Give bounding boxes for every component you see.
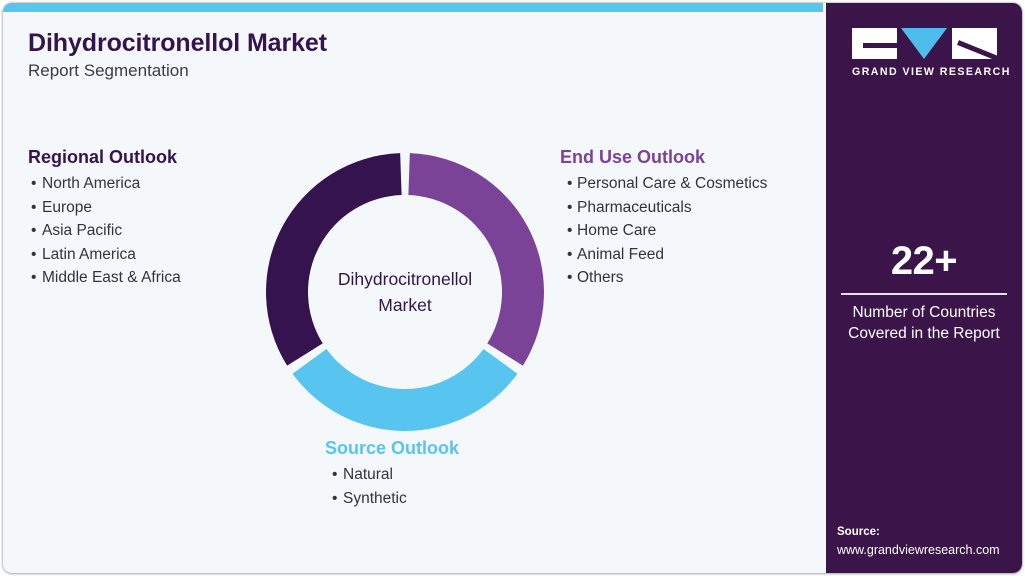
list-item-label: Personal Care & Cosmetics: [577, 172, 767, 196]
list-item-label: Home Care: [577, 219, 656, 243]
regional-outlook-list: •North America •Europe •Asia Pacific •La…: [28, 172, 181, 290]
page-subtitle: Report Segmentation: [28, 61, 189, 81]
logo-letter-r-icon: [952, 28, 997, 59]
infographic-canvas: Dihydrocitronellol Market Report Segment…: [0, 0, 1025, 576]
stat-value: 22+: [826, 239, 1022, 283]
source-url[interactable]: www.grandviewresearch.com: [837, 541, 1022, 559]
list-item: •Synthetic: [332, 487, 459, 511]
list-item-label: Latin America: [42, 243, 136, 267]
list-item: •Middle East & Africa: [31, 266, 181, 290]
list-item-label: Synthetic: [343, 487, 407, 511]
list-item-label: Natural: [343, 463, 393, 487]
page-title: Dihydrocitronellol Market: [28, 29, 327, 58]
list-item-label: Others: [577, 266, 624, 290]
donut-segment: [408, 153, 544, 366]
bullet-icon: •: [567, 243, 577, 267]
bullet-icon: •: [567, 219, 577, 243]
list-item-label: Asia Pacific: [42, 219, 122, 243]
source-outlook-list: •Natural •Synthetic: [325, 463, 459, 510]
stat-label-line1: Number of Countries: [826, 302, 1022, 323]
list-item: •Natural: [332, 463, 459, 487]
list-item-label: Middle East & Africa: [42, 266, 181, 290]
stat-divider: [841, 293, 1007, 295]
list-item: •Latin America: [31, 243, 181, 267]
end-use-outlook-list: •Personal Care & Cosmetics •Pharmaceutic…: [560, 172, 767, 290]
bullet-icon: •: [31, 196, 42, 220]
bullet-icon: •: [567, 172, 577, 196]
stat-label: Number of Countries Covered in the Repor…: [826, 302, 1022, 344]
source-outlook-heading: Source Outlook: [325, 438, 459, 459]
source-outlook-block: Source Outlook •Natural •Synthetic: [325, 438, 459, 510]
list-item: •Personal Care & Cosmetics: [567, 172, 767, 196]
report-card: Dihydrocitronellol Market Report Segment…: [3, 3, 1022, 573]
list-item: •Animal Feed: [567, 243, 767, 267]
logo-letter-g-icon: [852, 28, 897, 59]
list-item-label: Pharmaceuticals: [577, 196, 692, 220]
donut-segment: [293, 349, 518, 431]
source-title: Source:: [837, 524, 1022, 541]
list-item: •North America: [31, 172, 181, 196]
list-item: •Pharmaceuticals: [567, 196, 767, 220]
main-content-area: Dihydrocitronellol Market Report Segment…: [3, 12, 823, 573]
bullet-icon: •: [332, 463, 343, 487]
end-use-outlook-heading: End Use Outlook: [560, 147, 767, 168]
list-item-label: Europe: [42, 196, 92, 220]
list-item: •Others: [567, 266, 767, 290]
logo-marks: [852, 28, 997, 59]
end-use-outlook-block: End Use Outlook •Personal Care & Cosmeti…: [560, 147, 767, 290]
list-item: •Asia Pacific: [31, 219, 181, 243]
donut-chart-svg: [266, 153, 544, 431]
regional-outlook-block: Regional Outlook •North America •Europe …: [28, 147, 181, 290]
logo-letter-v-icon: [901, 28, 947, 59]
bullet-icon: •: [31, 266, 42, 290]
donut-segment: [266, 153, 402, 366]
logo-wordmark: GRAND VIEW RESEARCH: [852, 66, 997, 78]
donut-chart: Dihydrocitronellol Market: [266, 153, 544, 431]
list-item: •Europe: [31, 196, 181, 220]
bullet-icon: •: [31, 172, 42, 196]
brand-logo: GRAND VIEW RESEARCH: [852, 28, 997, 78]
list-item-label: North America: [42, 172, 140, 196]
stat-label-line2: Covered in the Report: [826, 323, 1022, 344]
list-item: •Home Care: [567, 219, 767, 243]
countries-stat: 22+ Number of Countries Covered in the R…: [826, 239, 1022, 344]
regional-outlook-heading: Regional Outlook: [28, 147, 181, 168]
bullet-icon: •: [332, 487, 343, 511]
list-item-label: Animal Feed: [577, 243, 664, 267]
side-panel: GRAND VIEW RESEARCH 22+ Number of Countr…: [826, 3, 1022, 573]
bullet-icon: •: [31, 219, 42, 243]
bullet-icon: •: [567, 266, 577, 290]
source-footer: Source: www.grandviewresearch.com: [837, 524, 1022, 559]
bullet-icon: •: [31, 243, 42, 267]
bullet-icon: •: [567, 196, 577, 220]
top-accent-bar: [3, 3, 823, 12]
